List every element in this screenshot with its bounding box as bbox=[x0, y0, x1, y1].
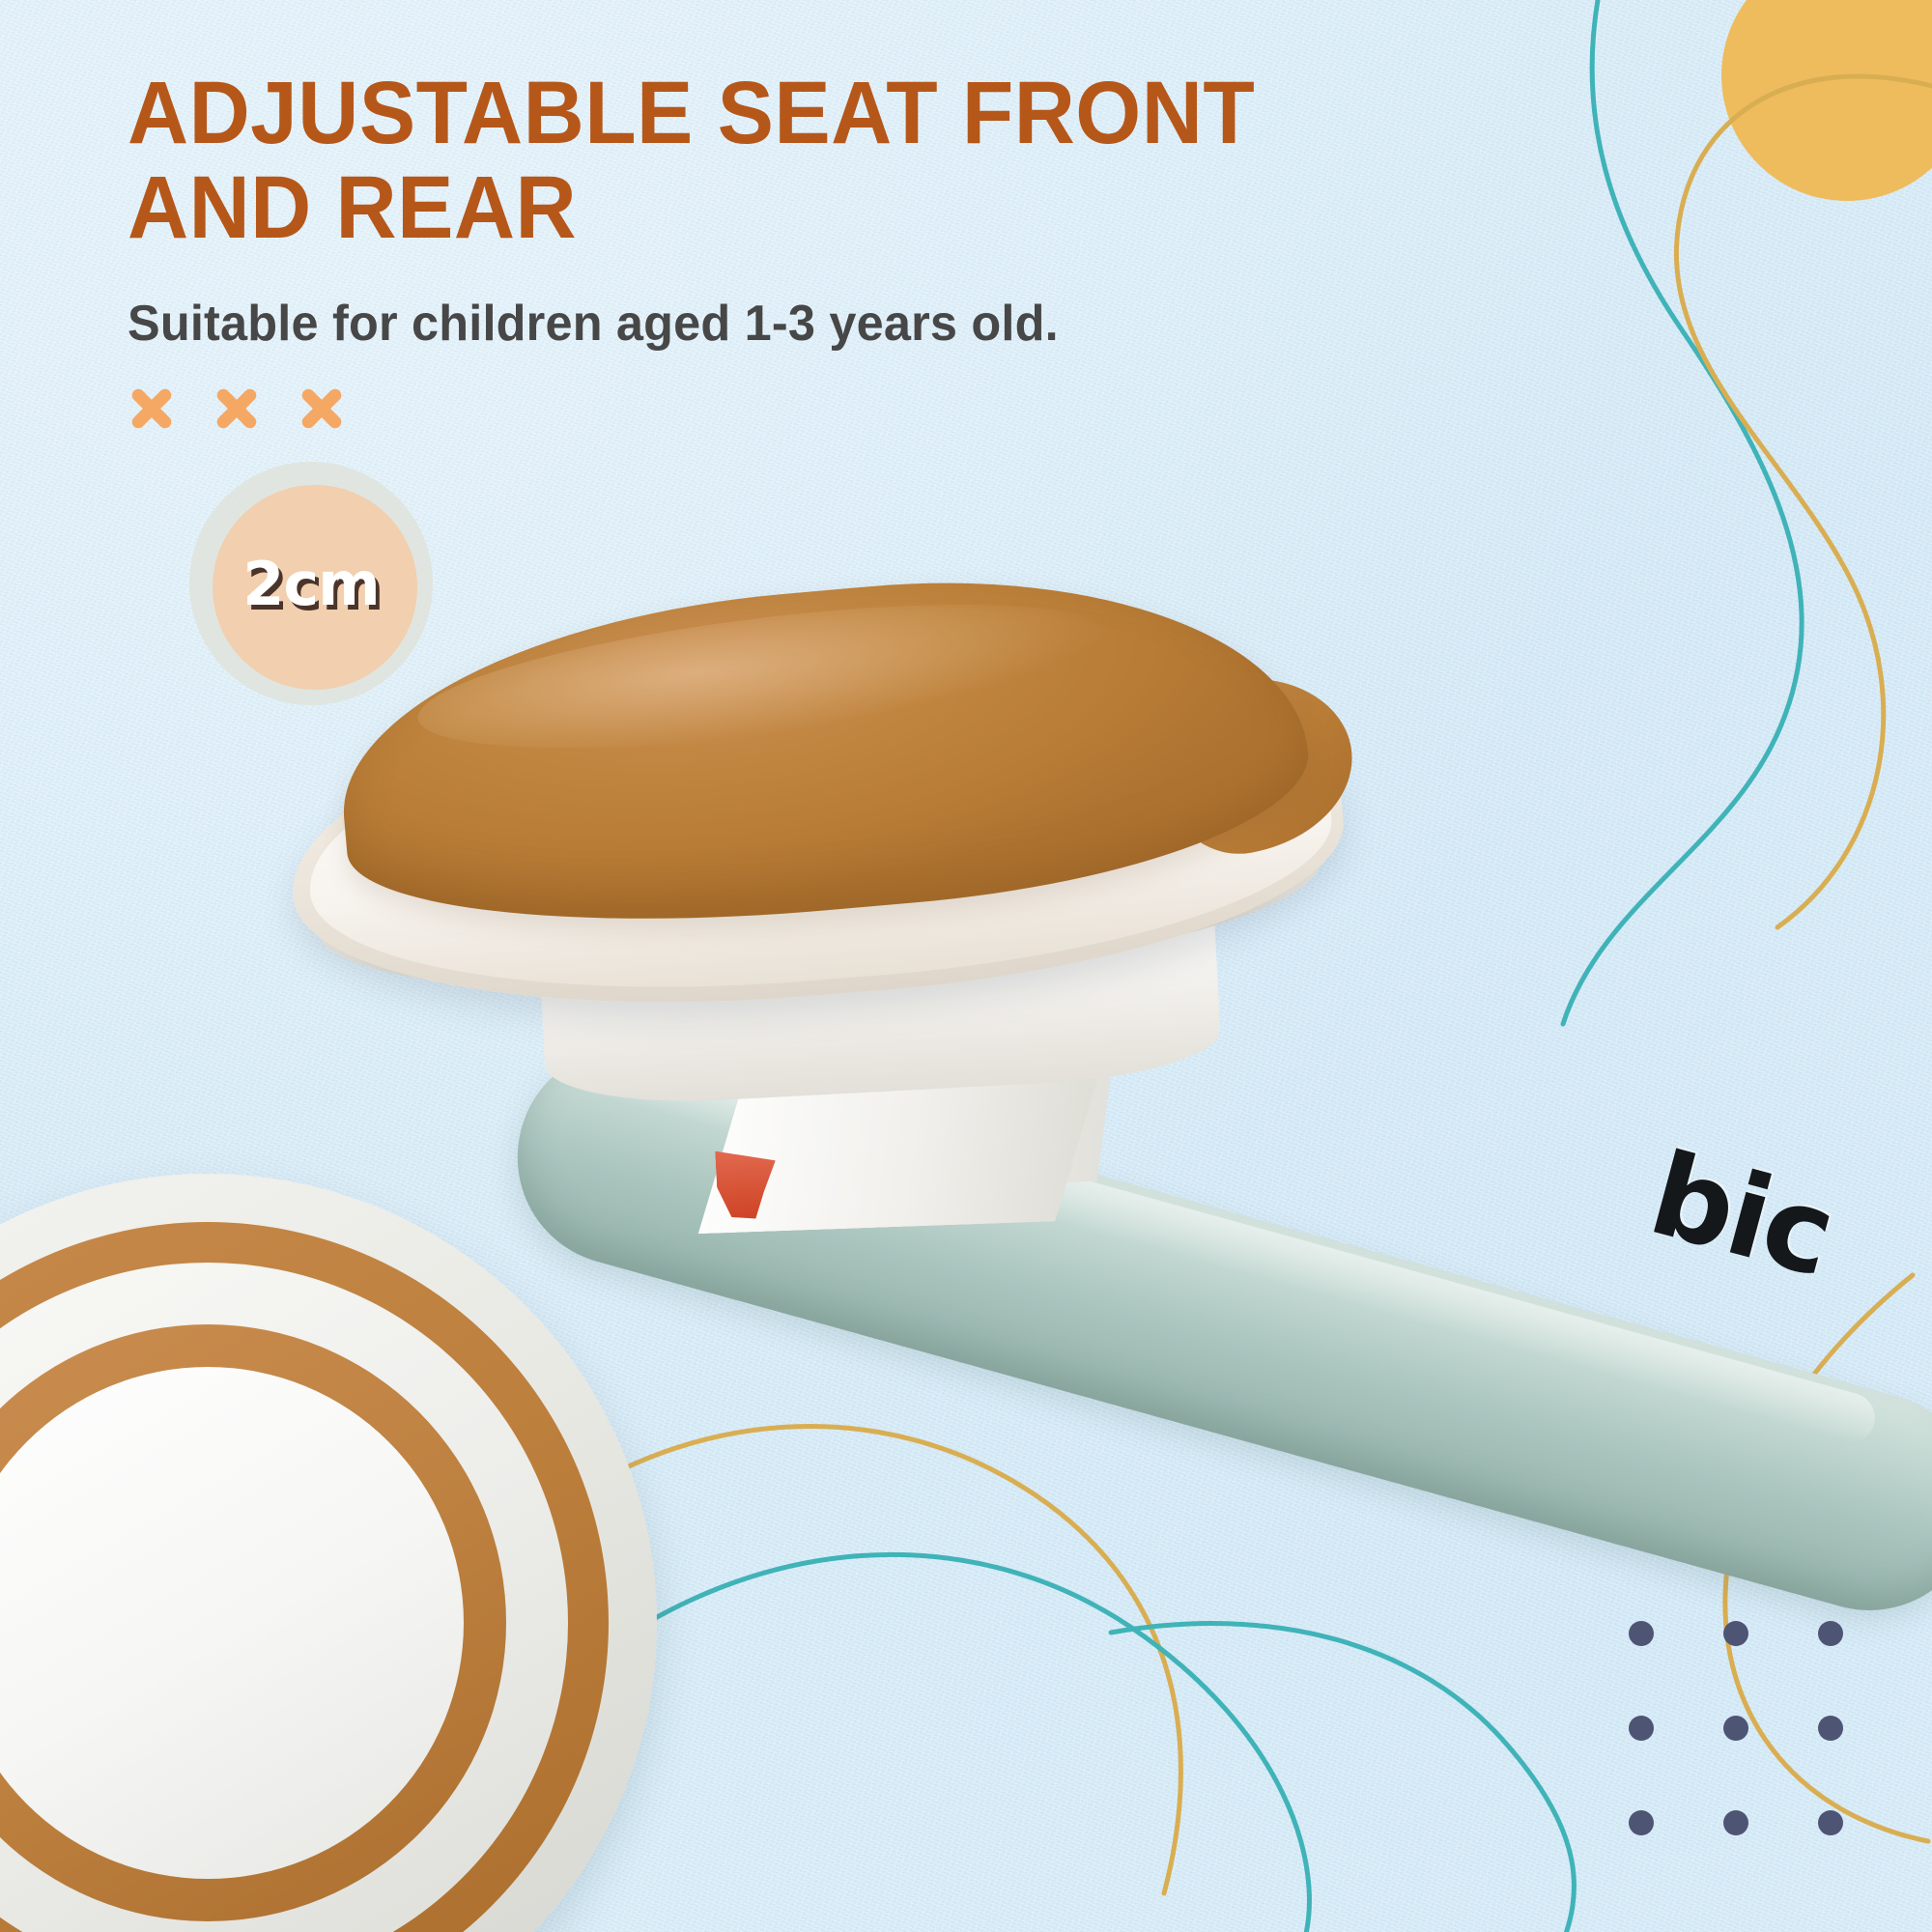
text-block: ADJUSTABLE SEAT FRONT AND REAR Suitable … bbox=[128, 66, 1345, 433]
grid-dot bbox=[1629, 1621, 1654, 1646]
grid-dot bbox=[1629, 1810, 1654, 1835]
badge-label: 2cm bbox=[189, 462, 433, 705]
measurement-badge: 2cm bbox=[189, 462, 433, 705]
grid-dot bbox=[1629, 1716, 1654, 1741]
brand-logo: bic bbox=[1637, 1126, 1845, 1301]
product-feature-poster: bic 2cm ADJUSTABLE SEAT FRONT AND REAR S… bbox=[0, 0, 1932, 1932]
grid-dot bbox=[1818, 1716, 1843, 1741]
subtitle-text: Suitable for children aged 1-3 years old… bbox=[128, 297, 1308, 352]
grid-dot bbox=[1818, 1810, 1843, 1835]
x-mark-row bbox=[128, 384, 1345, 433]
x-mark-icon bbox=[128, 384, 176, 433]
page-title: ADJUSTABLE SEAT FRONT AND REAR bbox=[128, 66, 1284, 256]
x-mark-icon bbox=[213, 384, 261, 433]
grid-dot bbox=[1818, 1621, 1843, 1646]
x-mark-icon bbox=[298, 384, 346, 433]
grid-dot bbox=[1723, 1810, 1748, 1835]
dot-grid-decoration bbox=[1629, 1621, 1843, 1835]
front-wheel bbox=[0, 1174, 686, 1932]
grid-dot bbox=[1723, 1716, 1748, 1741]
grid-dot bbox=[1723, 1621, 1748, 1646]
